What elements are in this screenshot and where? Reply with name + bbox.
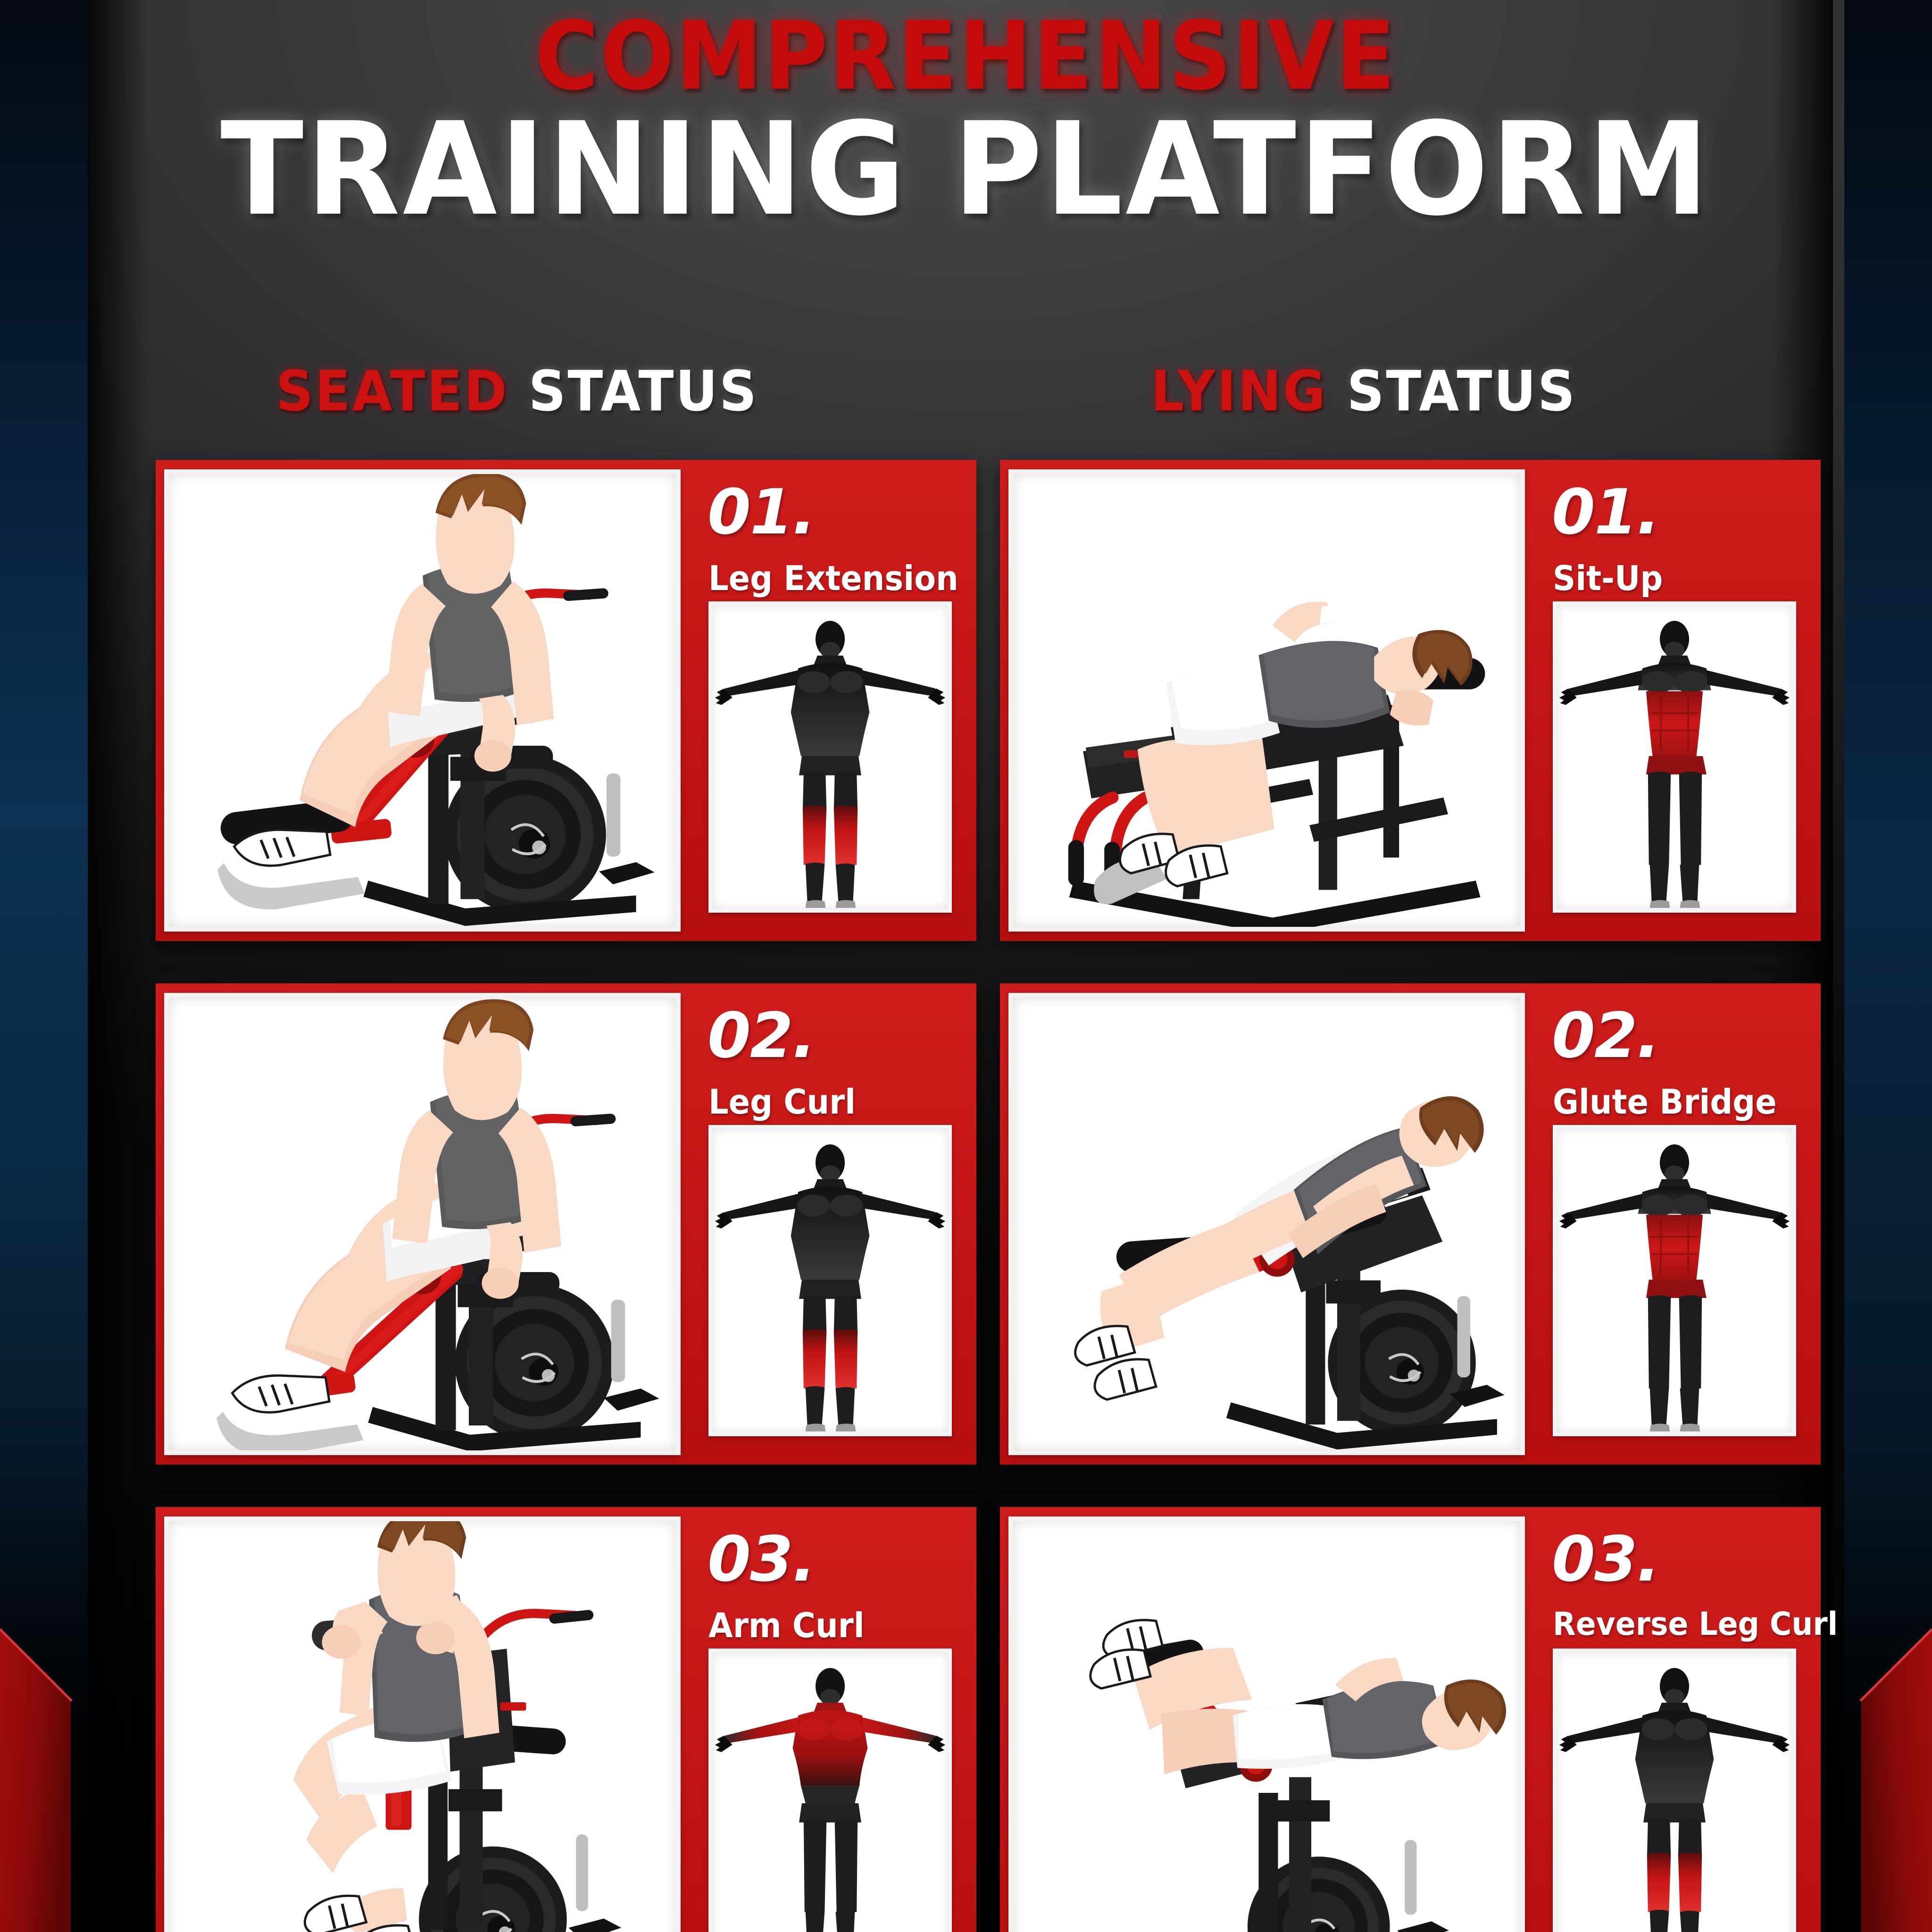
exercise-card[interactable]: 01. Leg Extension: [156, 460, 976, 941]
section-header-seated: SEATED STATUS: [276, 358, 758, 424]
exercise-illustration-panel: [164, 1516, 681, 1932]
exercise-name: Glute Bridge: [1553, 1085, 1777, 1119]
section-header-lying: LYING STATUS: [1151, 358, 1577, 424]
anatomy-figure-quadriceps: [712, 605, 948, 909]
exercise-name: Sit-Up: [1553, 561, 1663, 595]
exercise-card[interactable]: 03. Arm Curl: [156, 1507, 976, 1932]
exercise-card[interactable]: 01. Sit-Up: [1000, 460, 1821, 941]
anatomy-figure-hamstrings: [712, 1129, 948, 1432]
target-muscle-panel: [1553, 1125, 1796, 1436]
anatomy-figure-glutes-core: [1557, 1129, 1792, 1432]
target-muscle-panel: [708, 1649, 952, 1932]
exercise-name: Leg Curl: [708, 1085, 856, 1119]
reverse-leg-curl-machine-illustration: [1013, 1521, 1520, 1932]
anatomy-figure-biceps-chest: [712, 1652, 948, 1932]
leg-curl-machine-illustration: [169, 998, 676, 1450]
section-header-seated-highlight: SEATED: [276, 358, 509, 424]
page-title: TRAINING PLATFORM: [48, 106, 1883, 234]
exercise-number: 02.: [708, 1005, 815, 1067]
exercise-number: 01.: [708, 481, 815, 543]
exercise-name: Reverse Leg Curl: [1553, 1608, 1838, 1641]
page-header: COMPREHENSIVE TRAINING PLATFORM: [0, 9, 1932, 234]
sit-up-bench-illustration: [1013, 474, 1520, 927]
exercise-number: 03.: [708, 1528, 815, 1591]
section-header-lying-highlight: LYING: [1151, 358, 1327, 424]
target-muscle-panel: [708, 1125, 952, 1436]
section-header-seated-rest: STATUS: [529, 358, 758, 424]
exercise-illustration-panel: [164, 993, 681, 1455]
exercise-name: Arm Curl: [708, 1608, 865, 1642]
leg-extension-machine-illustration: [169, 474, 676, 927]
exercise-number: 01.: [1552, 481, 1659, 543]
exercise-card[interactable]: 02. Leg Curl: [156, 983, 976, 1465]
exercise-illustration-panel: [1008, 993, 1525, 1455]
exercise-name: Leg Extension: [708, 561, 958, 595]
exercise-card[interactable]: 02. Glute Bridge: [1000, 983, 1821, 1465]
exercise-illustration-panel: [1008, 1516, 1525, 1932]
glute-bridge-machine-illustration: [1013, 998, 1520, 1450]
target-muscle-panel: [1553, 601, 1796, 913]
arm-curl-machine-illustration: [169, 1521, 676, 1932]
status-label-row: SEATED STATUS LYING STATUS: [0, 358, 1932, 425]
exercise-number: 03.: [1552, 1528, 1659, 1591]
exercise-card[interactable]: 03. Reverse Leg Curl: [1000, 1507, 1821, 1932]
target-muscle-panel: [1553, 1649, 1796, 1932]
target-muscle-panel: [708, 601, 952, 913]
anatomy-figure-hamstrings-reverse: [1557, 1652, 1792, 1932]
exercise-illustration-panel: [164, 469, 681, 932]
title-top-line: COMPREHENSIVE: [77, 9, 1855, 104]
anatomy-figure-abdominals: [1557, 605, 1792, 909]
exercise-number: 02.: [1552, 1005, 1659, 1067]
section-header-lying-rest: STATUS: [1347, 358, 1577, 424]
exercise-illustration-panel: [1008, 469, 1525, 932]
